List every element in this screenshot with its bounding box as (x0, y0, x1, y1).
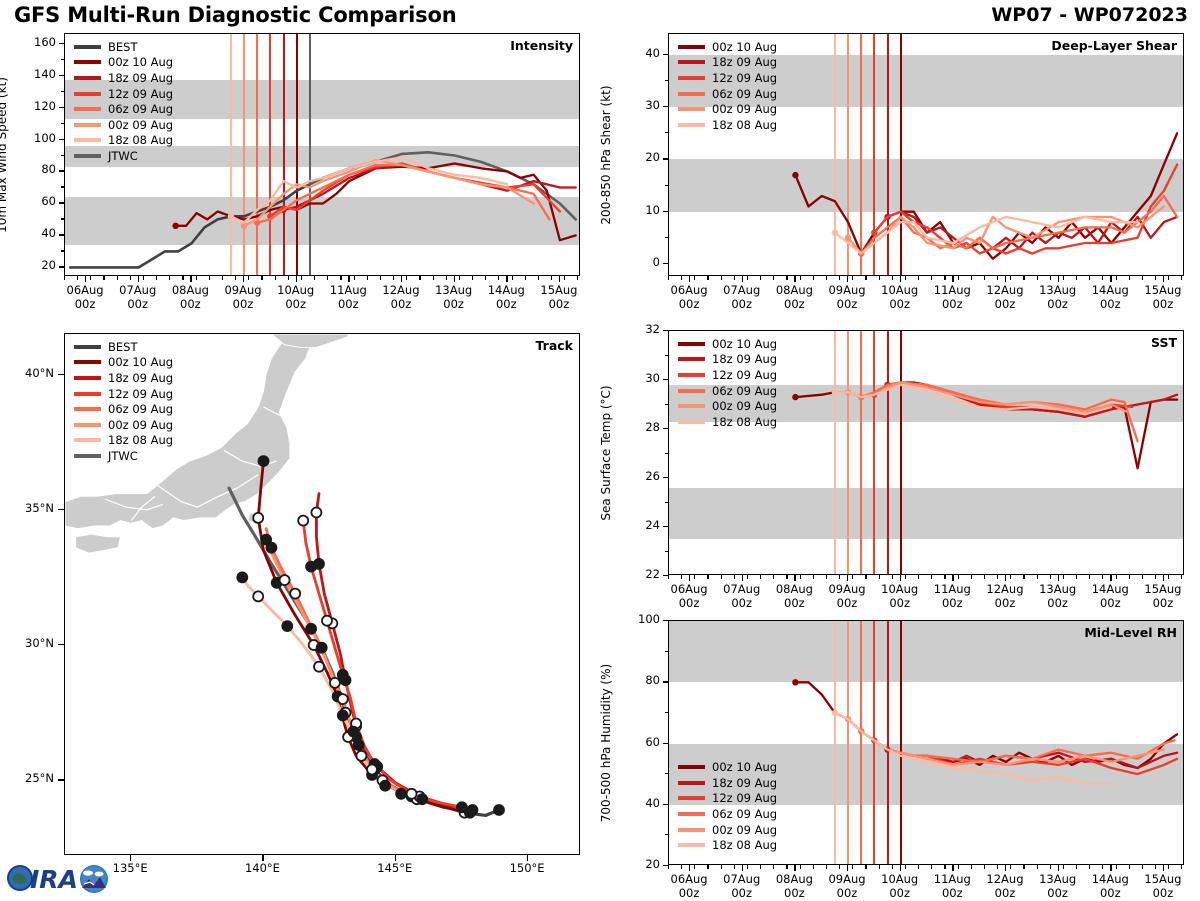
rh-legend-item: 06z 09 Aug (678, 806, 777, 822)
sst-panel-title: SST (1151, 335, 1177, 350)
legend-label: 18z 08 Aug (108, 433, 173, 447)
y-tick-label: 20 (16, 258, 56, 272)
x-minor-tick (839, 276, 840, 280)
track-marker-12z (322, 616, 332, 626)
x-tick-mark (454, 276, 455, 282)
track-legend-item: 00z 09 Aug (74, 417, 173, 433)
x-minor-tick (275, 276, 276, 280)
track-panel-title: Track (536, 338, 573, 353)
track-marker-00z (396, 789, 406, 799)
x-minor-tick (1023, 575, 1024, 579)
x-minor-tick (1050, 575, 1051, 579)
y-minor-tick (665, 132, 668, 133)
x-minor-tick (130, 276, 131, 280)
x-minor-tick (1142, 865, 1143, 869)
x-minor-tick (1010, 865, 1011, 869)
x-minor-tick (721, 276, 722, 280)
x-minor-tick (1076, 865, 1077, 869)
track-legend-item: 12z 09 Aug (74, 386, 173, 402)
x-minor-tick (1116, 575, 1117, 579)
sst-legend-item: 00z 09 Aug (678, 398, 777, 414)
x-minor-tick (668, 575, 669, 579)
x-minor-tick (564, 276, 565, 280)
storm-id-title: WP07 - WP072023 (991, 4, 1188, 26)
y-minor-tick (665, 620, 668, 621)
x-minor-tick (512, 276, 513, 280)
x-minor-tick (472, 276, 473, 280)
y-minor-tick (665, 211, 668, 212)
y-tick-label: 32 (620, 322, 660, 336)
x-minor-tick (997, 865, 998, 869)
legend-label: 18z 09 Aug (712, 776, 777, 790)
y-tick-label: 22 (620, 567, 660, 581)
track-marker-12z (407, 789, 417, 799)
x-tick-mark (138, 276, 139, 282)
y-minor-tick (61, 59, 64, 60)
cira-logo-icon: IRA (4, 858, 116, 898)
x-tick-mark (296, 276, 297, 282)
legend-label: 18z 09 Aug (108, 371, 173, 385)
legend-label: 12z 09 Aug (108, 387, 173, 401)
track-marker-12z (253, 513, 263, 523)
x-minor-tick (931, 276, 932, 280)
track-marker-00z (468, 805, 478, 815)
track-legend-item: BEST (74, 339, 173, 355)
x-tick-mark (506, 276, 507, 282)
x-tick-mark (900, 276, 901, 282)
legend-label: 12z 09 Aug (712, 791, 777, 805)
x-tick-mark (1058, 276, 1059, 282)
x-tick-mark (190, 276, 191, 282)
legend-swatch (678, 107, 705, 111)
x-tick-mark (243, 276, 244, 282)
legend-swatch (678, 828, 705, 832)
legend-swatch (678, 342, 705, 346)
track-marker-00z (338, 670, 348, 680)
x-minor-tick (1023, 865, 1024, 869)
x-minor-tick (971, 865, 972, 869)
lat-tick-label: 40°N (6, 366, 54, 380)
legend-label: BEST (108, 40, 137, 54)
legend-label: 06z 09 Aug (712, 384, 777, 398)
sst-y-axis-label: Sea Surface Temp (°C) (599, 385, 613, 520)
x-minor-tick (694, 276, 695, 280)
x-minor-tick (800, 865, 801, 869)
x-minor-tick (707, 575, 708, 579)
rh-legend-item: 18z 09 Aug (678, 775, 777, 791)
y-minor-tick (61, 43, 64, 44)
sst-legend: 00z 10 Aug18z 09 Aug12z 09 Aug06z 09 Aug… (678, 336, 777, 430)
series-start-marker (172, 223, 178, 229)
x-minor-tick (248, 276, 249, 280)
legend-label: 18z 08 Aug (712, 415, 777, 429)
legend-label: 18z 08 Aug (108, 133, 173, 147)
x-tick-mark (847, 276, 848, 282)
x-minor-tick (261, 276, 262, 280)
x-minor-tick (865, 865, 866, 869)
x-minor-tick (169, 276, 170, 280)
track-marker-00z (306, 562, 316, 572)
x-minor-tick (734, 865, 735, 869)
x-minor-tick (1102, 575, 1103, 579)
track-marker-00z (317, 643, 327, 653)
x-minor-tick (786, 276, 787, 280)
shear-panel-title: Deep-Layer Shear (1051, 38, 1177, 53)
data-series-line (795, 133, 1177, 258)
x-minor-tick (865, 575, 866, 579)
y-tick-label: 30 (620, 98, 660, 112)
x-minor-tick (1142, 276, 1143, 280)
y-minor-tick (665, 453, 668, 454)
legend-swatch (74, 438, 101, 442)
legend-swatch (678, 357, 705, 361)
x-minor-tick (813, 276, 814, 280)
x-minor-tick (997, 575, 998, 579)
track-marker-12z (314, 662, 324, 672)
x-tick-mark (794, 865, 795, 871)
y-tick-label: 100 (620, 612, 660, 626)
track-marker-12z (253, 591, 263, 601)
x-tick-mark (952, 276, 953, 282)
lat-tick-mark (58, 509, 64, 510)
track-marker-12z (311, 508, 321, 518)
y-tick-label: 10 (620, 203, 660, 217)
x-minor-tick (971, 575, 972, 579)
legend-label: 00z 09 Aug (712, 823, 777, 837)
shear-legend-item: 18z 09 Aug (678, 55, 777, 71)
x-minor-tick (958, 276, 959, 280)
shear-y-axis-label: 200-850 hPa Shear (kt) (599, 85, 613, 224)
legend-swatch (678, 389, 705, 393)
legend-label: 12z 09 Aug (108, 87, 173, 101)
legend-swatch (678, 404, 705, 408)
y-tick-label: 40 (620, 796, 660, 810)
legend-label: 00z 10 Aug (712, 760, 777, 774)
x-minor-tick (826, 575, 827, 579)
y-tick-label: 20 (620, 150, 660, 164)
y-minor-tick (61, 250, 64, 251)
track-marker-00z (354, 740, 364, 750)
x-minor-tick (446, 276, 447, 280)
x-minor-tick (984, 276, 985, 280)
sst-legend-item: 18z 09 Aug (678, 352, 777, 368)
x-minor-tick (301, 276, 302, 280)
legend-swatch (74, 138, 101, 142)
x-tick-label: 15Aug00z (1131, 582, 1195, 611)
x-minor-tick (1037, 865, 1038, 869)
legend-swatch (74, 407, 101, 411)
y-minor-tick (665, 237, 668, 238)
x-minor-tick (156, 276, 157, 280)
series-start-marker (832, 710, 838, 716)
y-minor-tick (665, 526, 668, 527)
x-minor-tick (1168, 575, 1169, 579)
lat-tick-mark (58, 374, 64, 375)
x-tick-mark (952, 865, 953, 871)
x-minor-tick (288, 276, 289, 280)
intensity-legend-item: 06z 09 Aug (74, 101, 173, 117)
x-tick-mark (689, 276, 690, 282)
legend-swatch (74, 76, 101, 80)
y-minor-tick (61, 75, 64, 76)
legend-label: 12z 09 Aug (712, 71, 777, 85)
x-minor-tick (721, 575, 722, 579)
x-minor-tick (354, 276, 355, 280)
x-tick-mark (1058, 865, 1059, 871)
intensity-legend-item: 12z 09 Aug (74, 86, 173, 102)
shear-legend-item: 18z 08 Aug (678, 117, 777, 133)
x-minor-tick (707, 865, 708, 869)
x-minor-tick (1050, 865, 1051, 869)
y-tick-label: 60 (620, 735, 660, 749)
lat-tick-label: 35°N (6, 501, 54, 515)
sst-legend-item: 12z 09 Aug (678, 367, 777, 383)
legend-swatch (74, 376, 101, 380)
y-tick-label: 28 (620, 420, 660, 434)
x-tick-mark (1110, 575, 1111, 581)
x-minor-tick (1050, 276, 1051, 280)
legend-label: 00z 10 Aug (108, 55, 173, 69)
x-minor-tick (1168, 276, 1169, 280)
legend-swatch (74, 360, 101, 364)
x-minor-tick (459, 276, 460, 280)
x-minor-tick (773, 276, 774, 280)
track-marker-12z (290, 589, 300, 599)
y-minor-tick (665, 379, 668, 380)
track-legend-item: 18z 09 Aug (74, 370, 173, 386)
x-minor-tick (800, 276, 801, 280)
track-marker-00z (282, 621, 292, 631)
x-minor-tick (931, 575, 932, 579)
x-tick-mark (1005, 575, 1006, 581)
series-start-marker (228, 213, 234, 219)
legend-label: JTWC (108, 149, 138, 163)
x-minor-tick (1181, 865, 1182, 869)
legend-label: 18z 09 Aug (108, 71, 173, 85)
x-minor-tick (800, 575, 801, 579)
y-minor-tick (61, 218, 64, 219)
y-minor-tick (665, 263, 668, 264)
x-minor-tick (433, 276, 434, 280)
y-tick-label: 24 (620, 518, 660, 532)
x-minor-tick (905, 575, 906, 579)
x-minor-tick (1063, 865, 1064, 869)
x-minor-tick (182, 276, 183, 280)
x-minor-tick (747, 575, 748, 579)
intensity-legend-item: 00z 10 Aug (74, 55, 173, 71)
legend-label: 18z 09 Aug (712, 352, 777, 366)
legend-swatch (74, 45, 101, 49)
x-tick-mark (742, 575, 743, 581)
y-minor-tick (665, 773, 668, 774)
x-tick-label: 15Aug00z (527, 283, 591, 312)
sst-legend-item: 00z 10 Aug (678, 336, 777, 352)
y-minor-tick (61, 139, 64, 140)
legend-swatch (678, 60, 705, 64)
x-minor-tick (538, 276, 539, 280)
landmass-shape (76, 534, 121, 553)
x-minor-tick (1010, 575, 1011, 579)
x-minor-tick (905, 865, 906, 869)
y-minor-tick (665, 551, 668, 552)
x-minor-tick (196, 276, 197, 280)
x-minor-tick (681, 865, 682, 869)
legend-label: 18z 08 Aug (712, 838, 777, 852)
x-tick-mark (1163, 575, 1164, 581)
intensity-y-axis-label: 10m Max Wind Speed (kt) (0, 77, 9, 233)
x-tick-mark (1110, 276, 1111, 282)
y-minor-tick (665, 185, 668, 186)
legend-swatch (678, 796, 705, 800)
legend-swatch (678, 45, 705, 49)
rh-legend-item: 18z 08 Aug (678, 837, 777, 853)
x-minor-tick (1102, 276, 1103, 280)
x-minor-tick (1116, 276, 1117, 280)
x-minor-tick (879, 865, 880, 869)
y-minor-tick (665, 428, 668, 429)
x-minor-tick (1181, 575, 1182, 579)
x-minor-tick (77, 276, 78, 280)
y-minor-tick (665, 158, 668, 159)
x-minor-tick (1037, 575, 1038, 579)
x-minor-tick (681, 276, 682, 280)
y-minor-tick (665, 804, 668, 805)
x-minor-tick (222, 276, 223, 280)
legend-label: 06z 09 Aug (712, 87, 777, 101)
legend-label: 00z 10 Aug (108, 355, 173, 369)
x-minor-tick (984, 575, 985, 579)
track-marker-00z (237, 572, 247, 582)
x-minor-tick (971, 276, 972, 280)
x-minor-tick (905, 276, 906, 280)
x-tick-mark (794, 575, 795, 581)
x-minor-tick (668, 276, 669, 280)
legend-swatch (74, 92, 101, 96)
x-tick-mark (348, 276, 349, 282)
x-minor-tick (1129, 276, 1130, 280)
x-tick-mark (1110, 865, 1111, 871)
x-minor-tick (707, 276, 708, 280)
x-minor-tick (852, 865, 853, 869)
track-marker-00z (259, 456, 269, 466)
track-marker-00z (380, 781, 390, 791)
y-tick-label: 0 (620, 255, 660, 269)
x-tick-mark (689, 575, 690, 581)
x-minor-tick (826, 276, 827, 280)
intensity-legend-item: BEST (74, 39, 173, 55)
legend-swatch (74, 454, 101, 458)
y-tick-label: 20 (620, 857, 660, 871)
x-minor-tick (826, 865, 827, 869)
x-minor-tick (1129, 575, 1130, 579)
x-tick-mark (847, 575, 848, 581)
data-series-line (795, 383, 1177, 469)
x-tick-mark (742, 276, 743, 282)
x-minor-tick (1155, 276, 1156, 280)
legend-label: 18z 08 Aug (712, 118, 777, 132)
x-minor-tick (694, 865, 695, 869)
y-minor-tick (61, 155, 64, 156)
x-minor-tick (340, 276, 341, 280)
legend-swatch (678, 781, 705, 785)
x-tick-mark (1058, 575, 1059, 581)
x-minor-tick (64, 276, 65, 280)
track-marker-00z (348, 727, 358, 737)
x-minor-tick (668, 865, 669, 869)
x-tick-label: 15Aug00z (1131, 872, 1195, 901)
legend-label: 00z 09 Aug (108, 118, 173, 132)
legend-label: 00z 09 Aug (712, 399, 777, 413)
y-tick-label: 60 (16, 194, 56, 208)
x-minor-tick (1116, 865, 1117, 869)
legend-swatch (74, 107, 101, 111)
x-minor-tick (1023, 276, 1024, 280)
y-minor-tick (665, 54, 668, 55)
track-line (266, 529, 422, 800)
shear-legend: 00z 10 Aug18z 09 Aug12z 09 Aug06z 09 Aug… (678, 39, 777, 133)
x-minor-tick (525, 276, 526, 280)
x-minor-tick (1102, 865, 1103, 869)
x-minor-tick (931, 865, 932, 869)
shear-legend-item: 06z 09 Aug (678, 86, 777, 102)
x-minor-tick (852, 276, 853, 280)
track-marker-12z (330, 678, 340, 688)
track-marker-12z (338, 694, 348, 704)
x-minor-tick (734, 575, 735, 579)
legend-swatch (74, 423, 101, 427)
x-minor-tick (1037, 276, 1038, 280)
x-minor-tick (1155, 575, 1156, 579)
y-tick-label: 30 (620, 371, 660, 385)
x-minor-tick (760, 276, 761, 280)
x-minor-tick (1089, 865, 1090, 869)
intensity-legend: BEST00z 10 Aug18z 09 Aug12z 09 Aug06z 09… (74, 39, 173, 164)
lat-tick-mark (58, 779, 64, 780)
track-legend-item: JTWC (74, 448, 173, 464)
y-tick-label: 80 (620, 673, 660, 687)
x-minor-tick (839, 865, 840, 869)
x-minor-tick (1063, 575, 1064, 579)
legend-label: 06z 09 Aug (108, 102, 173, 116)
x-tick-mark (742, 865, 743, 871)
x-minor-tick (90, 276, 91, 280)
x-minor-tick (1063, 276, 1064, 280)
legend-swatch (678, 812, 705, 816)
x-minor-tick (1155, 865, 1156, 869)
legend-swatch (678, 76, 705, 80)
x-minor-tick (1129, 865, 1130, 869)
x-tick-mark (559, 276, 560, 282)
x-minor-tick (852, 575, 853, 579)
y-tick-label: 140 (16, 67, 56, 81)
intensity-legend-item: 18z 09 Aug (74, 70, 173, 86)
lon-tick-label: 150°E (492, 861, 562, 875)
y-minor-tick (665, 355, 668, 356)
x-minor-tick (235, 276, 236, 280)
series-start-marker (832, 229, 838, 235)
legend-label: 00z 10 Aug (712, 40, 777, 54)
x-minor-tick (958, 865, 959, 869)
x-minor-tick (721, 865, 722, 869)
rh-legend: 00z 10 Aug18z 09 Aug12z 09 Aug06z 09 Aug… (678, 759, 777, 853)
x-minor-tick (918, 575, 919, 579)
legend-label: 00z 09 Aug (712, 102, 777, 116)
legend-label: 18z 09 Aug (712, 55, 777, 69)
y-tick-label: 40 (16, 226, 56, 240)
x-minor-tick (747, 276, 748, 280)
rh-legend-item: 00z 09 Aug (678, 822, 777, 838)
y-tick-label: 120 (16, 99, 56, 113)
